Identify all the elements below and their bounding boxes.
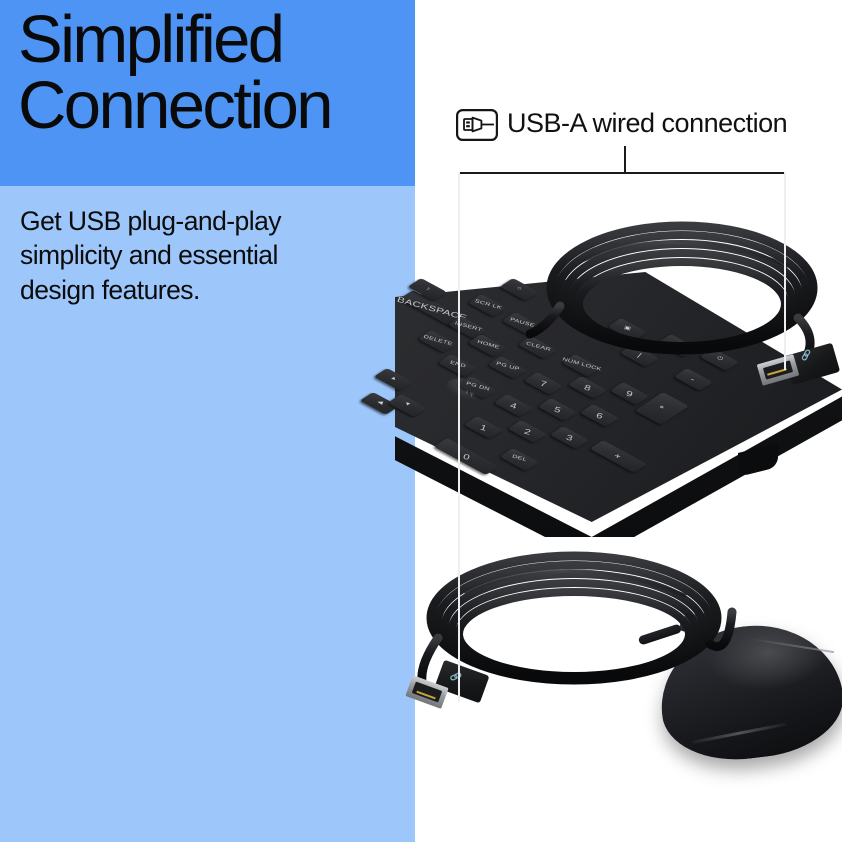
mouse-usb-a-plug: 🔗 <box>404 665 484 717</box>
leader-line-to-keyboard-plug <box>784 172 786 370</box>
page-title: Simplified Connection <box>18 7 418 140</box>
keyboard-usb-cable <box>548 222 820 354</box>
page-subcopy: Get USB plug-and-play simplicity and ess… <box>20 204 360 307</box>
keyboard-foot <box>738 443 778 477</box>
product-banner: Simplified Connection Get USB plug-and-p… <box>0 0 842 842</box>
leader-line-stem <box>624 146 626 173</box>
leader-line-bracket <box>458 172 786 174</box>
usb-a-plug-icon <box>456 109 498 141</box>
keyboard-usb-a-plug: 🔗 <box>757 345 837 397</box>
leader-line-to-mouse-plug <box>458 172 460 702</box>
mouse-button-split <box>751 638 834 653</box>
mouse-base-seam <box>692 723 787 744</box>
callout-label: USB-A wired connection <box>507 108 787 139</box>
